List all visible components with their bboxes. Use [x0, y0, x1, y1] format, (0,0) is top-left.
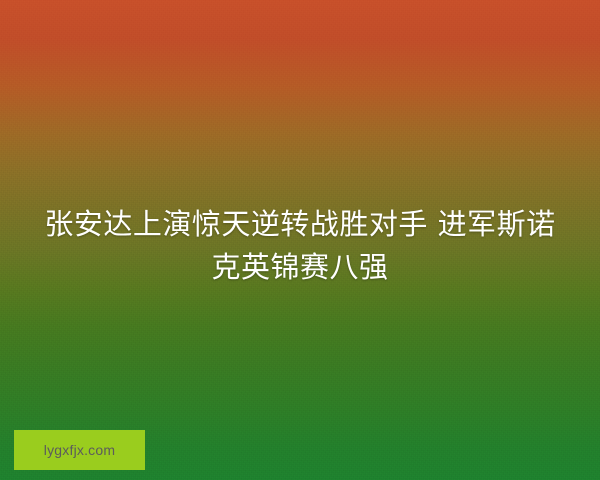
image-banner: 张安达上演惊天逆转战胜对手 进军斯诺克英锦赛八强 lygxfjx.com: [0, 0, 600, 480]
watermark-text: lygxfjx.com: [44, 442, 115, 458]
banner-headline: 张安达上演惊天逆转战胜对手 进军斯诺克英锦赛八强: [0, 203, 600, 289]
watermark-badge: lygxfjx.com: [14, 430, 145, 470]
